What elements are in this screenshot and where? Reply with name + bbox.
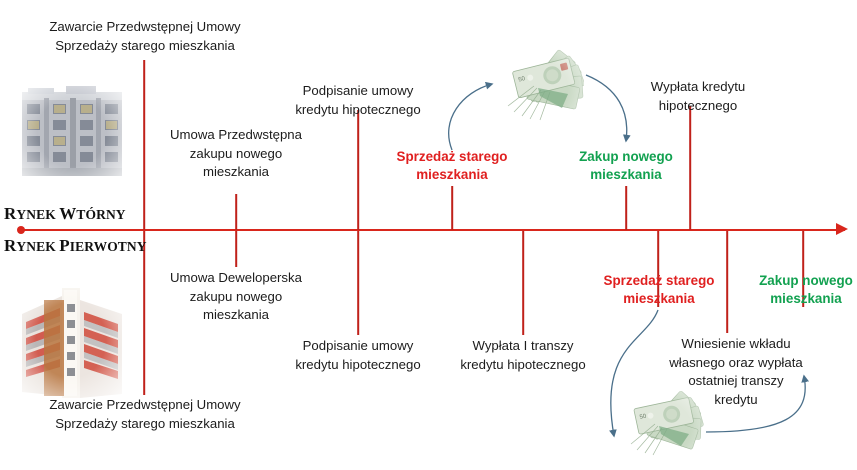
market-secondary-initial-2: W (59, 204, 76, 223)
caption-line: Sprzedaż starego (586, 272, 732, 290)
caption-upper-2: Umowa Przedwstępna zakupu nowego mieszka… (152, 126, 320, 182)
caption-upper-3: Podpisanie umowy kredytu hipotecznego (272, 82, 444, 119)
tick-upper-3 (357, 110, 359, 230)
caption-line: Podpisanie umowy (272, 82, 444, 101)
tick-upper-4 (451, 186, 453, 230)
market-secondary-rest-1: YNEK (16, 207, 59, 222)
caption-line: Zawarcie Przedwstępnej Umowy (24, 396, 266, 415)
arrow-sale-to-money (449, 84, 492, 150)
market-primary-initial-2: P (59, 236, 69, 255)
caption-line: kredytu hipotecznego (441, 356, 605, 375)
caption-line: zakupu nowego (152, 145, 320, 164)
caption-line: Sprzedaż starego (380, 148, 524, 166)
old-apartment-block-svg (8, 68, 136, 196)
primary-market-building-photo (6, 270, 136, 410)
caption-line: Zawarcie Przedwstępnej Umowy (24, 18, 266, 37)
caption-line: Zakup nowego (742, 272, 857, 290)
caption-line: ostatniej transzy (650, 372, 822, 391)
caption-line: mieszkania (152, 163, 320, 182)
caption-upper-4-sale: Sprzedaż starego mieszkania (380, 148, 524, 184)
caption-lower-2: Umowa Deweloperska zakupu nowego mieszka… (154, 269, 318, 325)
market-primary-rest-1: YNEK (16, 239, 59, 254)
banknotes-fan-svg: 50 (492, 44, 584, 134)
caption-line: mieszkania (586, 290, 732, 308)
timeline-arrow-icon (836, 223, 848, 235)
tick-lower-4 (522, 231, 524, 335)
caption-line: Zakup nowego (562, 148, 690, 166)
caption-lower-5-sale: Sprzedaż starego mieszkania (586, 272, 732, 308)
caption-upper-5-purchase: Zakup nowego mieszkania (562, 148, 690, 184)
caption-lower-4: Wypłata I transzy kredytu hipotecznego (441, 337, 605, 374)
caption-line: mieszkania (380, 166, 524, 184)
caption-line: Umowa Deweloperska (154, 269, 318, 288)
timeline-start-dot (17, 226, 25, 234)
caption-line: kredytu (650, 391, 822, 410)
caption-line: mieszkania (562, 166, 690, 184)
caption-line: mieszkania (742, 290, 857, 308)
caption-lower-1: Zawarcie Przedwstępnej Umowy Sprzedaży s… (24, 396, 266, 433)
arrow-money-to-purchase (586, 75, 627, 141)
caption-line: Wypłata kredytu (624, 78, 772, 97)
caption-line: Wniesienie wkładu (650, 335, 822, 354)
caption-upper-6: Wypłata kredytu hipotecznego (624, 78, 772, 115)
new-apartment-block-svg (6, 270, 136, 410)
caption-line: kredytu hipotecznego (272, 356, 444, 375)
tick-upper-1 (143, 60, 145, 230)
market-primary-rest-2: IERWOTNY (70, 239, 147, 254)
market-primary-initial-1: R (4, 236, 16, 255)
caption-line: kredytu hipotecznego (272, 101, 444, 120)
caption-line: zakupu nowego (154, 288, 318, 307)
caption-upper-1: Zawarcie Przedwstępnej Umowy Sprzedaży s… (24, 18, 266, 55)
market-secondary-initial-1: R (4, 204, 16, 223)
caption-line: Sprzedaży starego mieszkania (24, 37, 266, 56)
secondary-market-building-photo (8, 68, 136, 196)
timeline-diagram: 50 (0, 0, 857, 470)
tick-upper-2 (235, 194, 237, 230)
market-label-secondary: RYNEK WTÓRNY (4, 204, 126, 224)
market-secondary-rest-2: TÓRNY (76, 207, 125, 222)
tick-lower-2 (235, 231, 237, 267)
tick-lower-3 (357, 231, 359, 335)
caption-line: Umowa Przedwstępna (152, 126, 320, 145)
caption-line: własnego oraz wypłata (650, 354, 822, 373)
caption-lower-3: Podpisanie umowy kredytu hipotecznego (272, 337, 444, 374)
caption-line: Wypłata I transzy (441, 337, 605, 356)
caption-lower-6: Wniesienie wkładu własnego oraz wypłata … (650, 335, 822, 410)
caption-line: Podpisanie umowy (272, 337, 444, 356)
caption-line: hipotecznego (624, 97, 772, 116)
caption-lower-7-purchase: Zakup nowego mieszkania (742, 272, 857, 308)
money-top-photo: 50 (492, 44, 584, 134)
tick-upper-5 (625, 186, 627, 230)
market-label-primary: RYNEK PIERWOTNY (4, 236, 147, 256)
caption-line: mieszkania (154, 306, 318, 325)
caption-line: Sprzedaży starego mieszkania (24, 415, 266, 434)
